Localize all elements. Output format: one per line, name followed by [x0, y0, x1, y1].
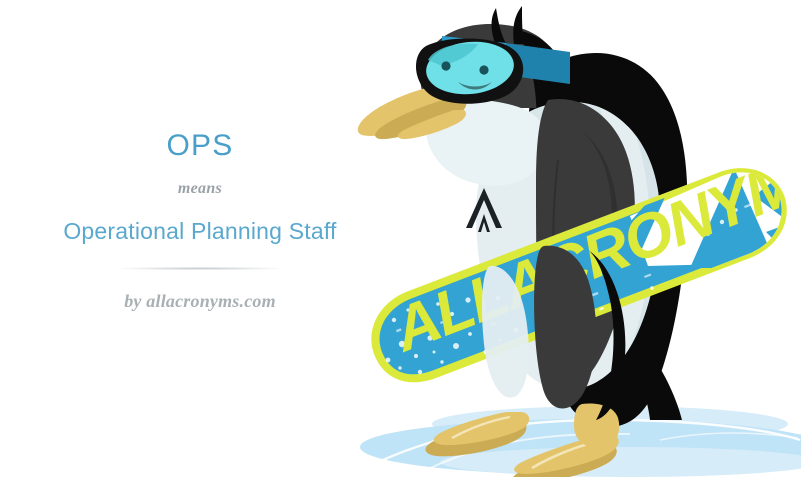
goggle-eye-left: [441, 61, 450, 70]
section-divider: [120, 267, 280, 270]
penguin-ankle: [574, 404, 619, 449]
means-connector: means: [178, 181, 222, 197]
acronym-expansion: Operational Planning Staff: [35, 217, 365, 245]
acronym-title: OPS: [167, 131, 234, 161]
source-byline: by allacronyms.com: [124, 292, 276, 310]
goggle-eye-right: [479, 65, 488, 74]
image-canvas: OPS means Operational Planning Staff by …: [0, 0, 801, 477]
penguin-illustration: ALLACRONYMS: [330, 0, 801, 477]
goggles: [416, 38, 523, 104]
